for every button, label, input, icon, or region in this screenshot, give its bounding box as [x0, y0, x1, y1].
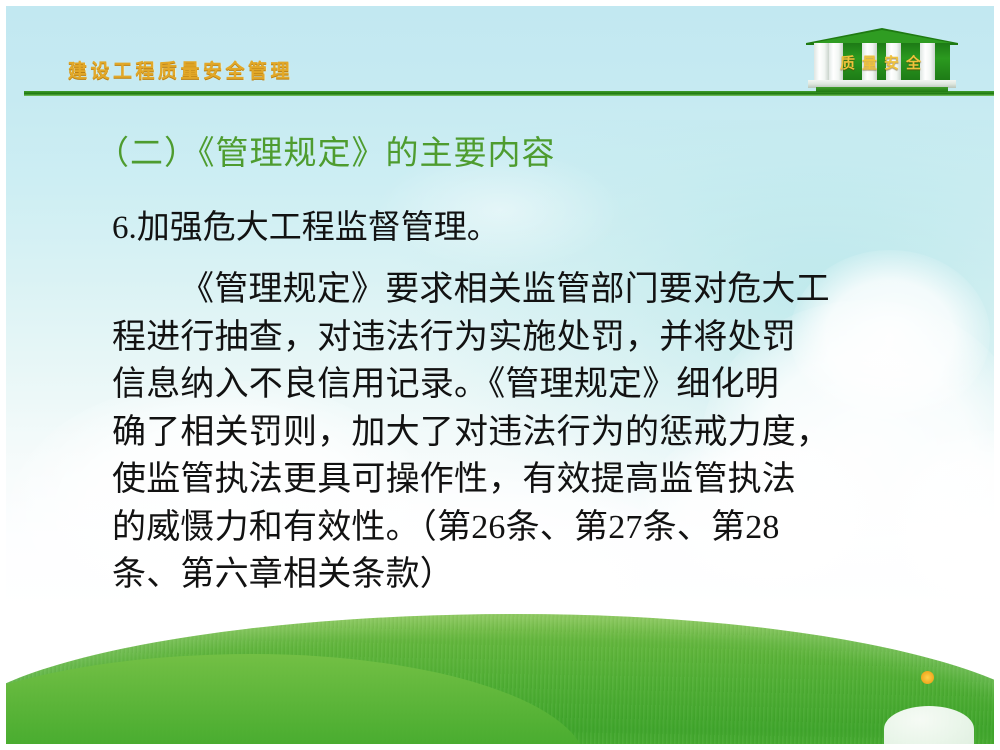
slide-body: 6.加强危大工程监督管理。 《管理规定》要求相关监管部门要对危大工 程进行抽查，… — [112, 205, 902, 599]
quality-safety-temple-logo: 质量安全 — [806, 28, 958, 92]
meadow-decoration — [6, 614, 994, 744]
body-line: 确了相关罚则，加大了对违法行为的惩戒力度， — [112, 409, 902, 457]
header-title: 建设工程质量安全管理 — [68, 56, 293, 83]
body-item-number: 6.加强危大工程监督管理。 — [112, 205, 902, 252]
logo-text: 质量安全 — [820, 52, 948, 73]
flower-icon — [921, 671, 934, 684]
body-line: 条、第六章相关条款） — [112, 551, 902, 599]
body-line: 的威慑力和有效性。（第26条、第27条、第28 — [112, 504, 902, 552]
presentation-slide: 建设工程质量安全管理 质量安全 （二）《管理规定》的主要内容 6.加强危大工程监… — [0, 0, 1000, 750]
body-line: 程进行抽查，对违法行为实施处罚，并将处罚 — [112, 314, 902, 362]
body-paragraph: 《管理规定》要求相关监管部门要对危大工 程进行抽查，对违法行为实施处罚，并将处罚… — [112, 266, 902, 599]
body-line: 使监管执法更具可操作性，有效提高监管执法 — [112, 456, 902, 504]
slide-heading: （二）《管理规定》的主要内容 — [96, 126, 556, 174]
body-line: 《管理规定》要求相关监管部门要对危大工 — [112, 266, 902, 314]
white-bush-shape — [884, 706, 974, 744]
temple-base-shadow — [816, 87, 948, 92]
body-line: 信息纳入不良信用记录。《管理规定》细化明 — [112, 361, 902, 409]
